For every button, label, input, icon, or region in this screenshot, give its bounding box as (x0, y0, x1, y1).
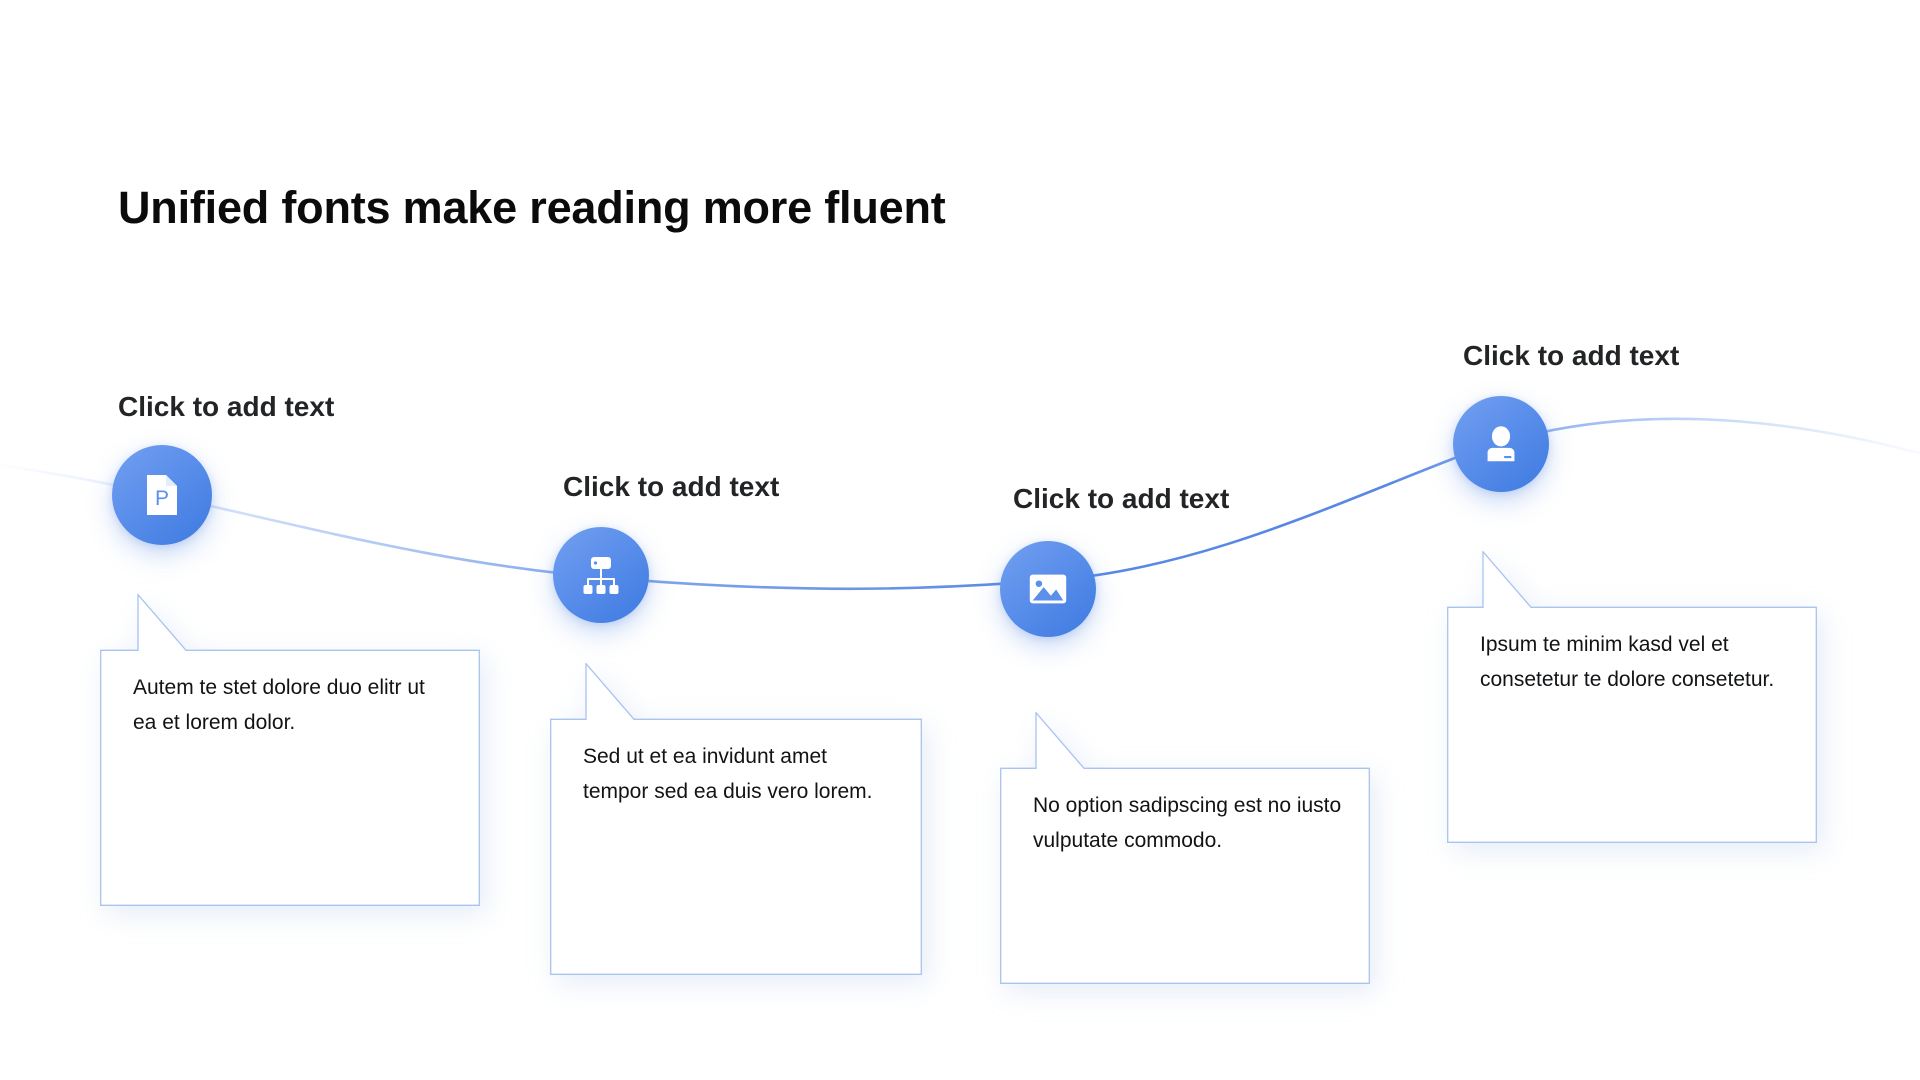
step-heading-3: Click to add text (1013, 483, 1229, 515)
step-heading-2: Click to add text (563, 471, 779, 503)
step-heading-4: Click to add text (1463, 340, 1679, 372)
callout-box-2[interactable]: Sed ut et ea invidunt amet tempor sed ea… (550, 663, 922, 975)
page-title: Unified fonts make reading more fluent (118, 182, 946, 234)
step-heading-1: Click to add text (118, 391, 334, 423)
callout-shape-1 (100, 594, 480, 906)
callout-text-3: No option sadipscing est no iusto vulput… (1033, 788, 1343, 858)
user-profile-icon (1478, 421, 1524, 467)
presentation-file-icon: P (138, 471, 186, 519)
image-icon (1025, 566, 1071, 612)
step-icon-1-presentation-file[interactable]: P (112, 445, 212, 545)
callout-text-2: Sed ut et ea invidunt amet tempor sed ea… (583, 739, 883, 809)
background-wave (0, 0, 1920, 1080)
callout-shape-4 (1447, 551, 1817, 843)
org-chart-icon (577, 551, 625, 599)
step-icon-3-image[interactable] (1000, 541, 1096, 637)
callout-text-1: Autem te stet dolore duo elitr ut ea et … (133, 670, 433, 740)
step-icon-4-user-profile[interactable] (1453, 396, 1549, 492)
callout-shape-2 (550, 663, 922, 975)
svg-text:P: P (155, 487, 169, 510)
callout-box-1[interactable]: Autem te stet dolore duo elitr ut ea et … (100, 594, 480, 906)
callout-text-4: Ipsum te minim kasd vel et consetetur te… (1480, 627, 1780, 697)
callout-box-3[interactable]: No option sadipscing est no iusto vulput… (1000, 712, 1370, 984)
slide-canvas: Unified fonts make reading more fluent C… (0, 0, 1920, 1080)
step-icon-2-org-chart[interactable] (553, 527, 649, 623)
callout-box-4[interactable]: Ipsum te minim kasd vel et consetetur te… (1447, 551, 1817, 843)
